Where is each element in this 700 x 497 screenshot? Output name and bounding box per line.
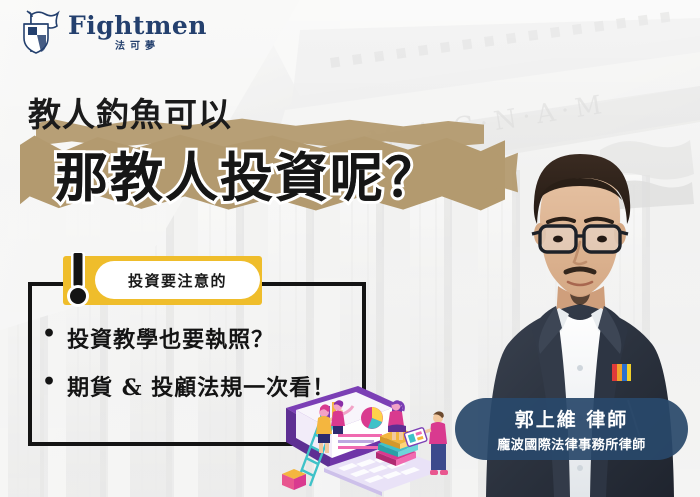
badge-label: 投資要注意的 <box>128 270 227 291</box>
list-item: • 投資教學也要執照？ <box>42 322 362 354</box>
brand-name: Fightmen <box>68 13 207 38</box>
bullet-text: 投資教學也要執照？ <box>67 322 274 354</box>
headline-line-2: 那教人投資呢？ <box>55 136 440 212</box>
bullet-marker: • <box>42 322 57 347</box>
brand-logo[interactable]: Fightmen 法可夢 <box>18 8 207 56</box>
isometric-online-learning-illustration-icon <box>280 382 460 497</box>
poster-canvas: M·A·G·N·A·M Fightmen <box>0 0 700 497</box>
bullet-marker: • <box>42 370 57 395</box>
speaker-name: 郭上維 律師 <box>515 405 629 432</box>
headline-line-1: 教人釣魚可以 <box>28 88 232 136</box>
speaker-firm: 龐波國際法律事務所律師 <box>497 434 646 453</box>
brand-name-cn: 法可夢 <box>115 42 160 52</box>
badge-pill: 投資要注意的 <box>95 261 260 299</box>
exclamation-mark-icon <box>62 252 94 308</box>
shield-flag-emblem-icon <box>18 8 62 56</box>
speaker-name-badge: 郭上維 律師 龐波國際法律事務所律師 <box>455 398 688 460</box>
